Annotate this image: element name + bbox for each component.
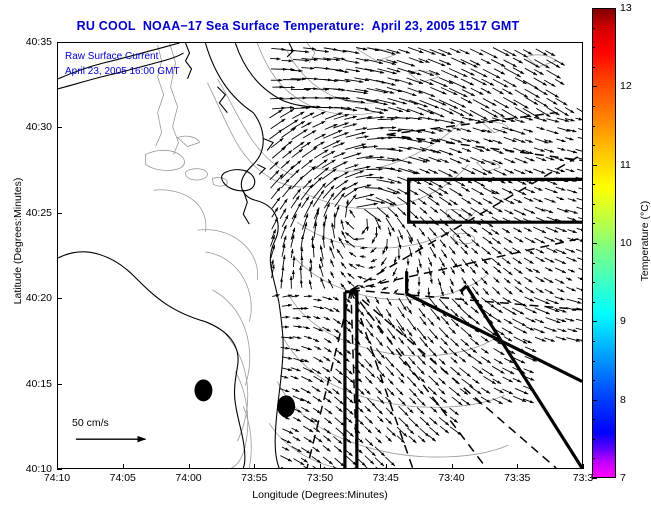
current-vector — [320, 257, 322, 267]
current-vector — [291, 121, 305, 130]
current-vector — [566, 278, 572, 281]
current-vector — [494, 267, 502, 273]
current-vector — [524, 209, 535, 214]
current-vector — [545, 289, 554, 294]
current-vector — [493, 150, 503, 154]
current-vector — [282, 150, 292, 158]
current-vector — [534, 117, 547, 121]
current-vector — [301, 279, 302, 287]
colorbar-minor-tick — [592, 361, 595, 362]
current-vector — [556, 187, 566, 190]
current-vector — [409, 100, 428, 107]
current-vector — [504, 319, 513, 324]
current-vector — [345, 165, 358, 169]
current-vector — [449, 387, 460, 396]
current-vector — [388, 208, 398, 218]
current-vector — [408, 346, 415, 355]
radar-site-marker — [277, 395, 295, 417]
current-vector — [420, 208, 427, 214]
current-vector — [471, 140, 481, 143]
current-vector — [503, 148, 514, 152]
current-vector — [314, 89, 328, 90]
current-vector — [335, 418, 345, 426]
current-vector — [269, 110, 282, 118]
current-vector — [311, 259, 312, 269]
current-vector — [314, 376, 324, 382]
current-vector — [322, 327, 330, 331]
current-vector — [271, 187, 280, 199]
current-vector — [399, 98, 418, 104]
current-vector — [470, 110, 488, 119]
current-vector — [429, 228, 436, 236]
y-axis-label: Latitude (Degrees:Minutes) — [12, 161, 24, 321]
current-vector — [504, 278, 510, 283]
current-vector — [376, 467, 387, 468]
current-vector — [283, 255, 285, 268]
current-vector — [481, 79, 494, 85]
current-vector — [331, 271, 334, 278]
current-vector — [441, 267, 445, 275]
current-vector — [461, 247, 468, 254]
current-vector — [555, 268, 566, 273]
current-vector — [492, 317, 501, 323]
current-vector — [428, 288, 429, 296]
current-vector — [428, 258, 431, 267]
current-vector — [292, 389, 299, 392]
current-vector — [301, 448, 310, 454]
current-vector — [536, 257, 545, 262]
current-vector — [310, 280, 312, 289]
current-vector — [504, 158, 515, 162]
current-vector — [461, 98, 472, 104]
current-vector — [417, 267, 418, 274]
current-vector — [576, 288, 582, 291]
current-vector — [346, 368, 353, 374]
current-vector — [576, 319, 582, 321]
current-vector — [312, 386, 321, 391]
current-vector — [504, 288, 512, 295]
current-vector — [312, 177, 322, 187]
current-vector — [450, 286, 453, 293]
current-vector — [386, 218, 395, 232]
map-graphics — [58, 43, 582, 468]
current-vector — [324, 68, 344, 70]
current-vector — [494, 348, 505, 354]
current-vector — [533, 227, 546, 233]
current-vector — [557, 118, 569, 121]
current-vector — [280, 389, 290, 392]
current-vector — [502, 389, 513, 394]
current-vector — [324, 307, 333, 311]
current-vector — [372, 237, 376, 244]
current-vector — [440, 367, 448, 375]
current-vector — [441, 287, 444, 296]
current-vector — [565, 138, 573, 140]
current-vector — [333, 297, 339, 300]
current-vector — [293, 189, 301, 199]
current-vector — [337, 249, 343, 259]
current-vector — [484, 139, 493, 142]
current-vector — [323, 140, 341, 148]
current-vector — [418, 389, 424, 395]
current-vector — [525, 347, 536, 352]
colorbar-tick-mark — [592, 400, 597, 401]
current-vector — [301, 388, 311, 393]
current-vector — [428, 337, 434, 344]
current-vector — [504, 68, 521, 77]
current-vector — [472, 188, 484, 195]
current-vector — [533, 269, 539, 273]
current-vector — [346, 456, 356, 465]
current-vector — [418, 436, 425, 442]
current-vector — [502, 188, 513, 193]
current-vector — [419, 308, 426, 317]
current-vector — [376, 338, 383, 347]
current-vector — [439, 299, 448, 310]
current-vector — [513, 258, 522, 264]
current-vector — [371, 248, 377, 253]
current-vector — [322, 160, 335, 168]
current-vector — [568, 329, 578, 332]
current-vector — [452, 378, 459, 384]
current-vector — [313, 396, 322, 402]
current-vector — [547, 107, 560, 115]
current-vector — [535, 238, 545, 243]
current-vector — [386, 418, 392, 424]
current-vector — [408, 318, 417, 330]
current-vector — [472, 77, 487, 85]
x-tick-label: 73:3 — [573, 472, 593, 484]
current-vector — [439, 359, 445, 365]
radar-site-marker — [194, 379, 212, 401]
current-vector — [565, 319, 574, 321]
current-vector — [555, 238, 564, 241]
x-tick-mark — [517, 464, 518, 469]
surface-current-vectors — [269, 47, 582, 468]
x-tick-mark — [320, 464, 321, 469]
current-vector — [470, 267, 476, 274]
current-vector — [533, 169, 545, 174]
current-vector — [451, 357, 458, 363]
current-vector — [471, 198, 482, 205]
current-vector — [483, 198, 493, 203]
colorbar-minor-tick — [592, 145, 595, 146]
current-vector — [534, 298, 550, 304]
current-vector — [360, 248, 367, 249]
current-vector — [281, 347, 290, 348]
current-vector — [568, 269, 575, 272]
current-vector — [461, 138, 471, 141]
x-tick-mark — [254, 464, 255, 469]
x-tick-mark — [386, 464, 387, 469]
current-vector — [504, 237, 513, 242]
current-vector — [430, 247, 436, 258]
current-vector — [567, 218, 576, 221]
current-vector — [567, 150, 577, 153]
current-vector — [482, 148, 490, 151]
current-vector — [429, 366, 436, 373]
current-vector — [515, 120, 525, 123]
current-vector — [303, 166, 315, 177]
current-vector — [555, 169, 565, 172]
y-tick-label: 40:20 — [26, 292, 52, 304]
current-vector — [534, 99, 548, 107]
current-vector — [450, 148, 462, 153]
current-vector — [282, 186, 291, 197]
current-vector — [462, 278, 467, 285]
current-vector — [366, 368, 374, 377]
current-vector — [525, 170, 533, 173]
current-vector — [322, 367, 330, 372]
current-vector — [349, 252, 356, 257]
current-vector — [304, 336, 312, 339]
current-vector — [566, 169, 575, 172]
current-vector — [350, 210, 355, 218]
current-vector — [429, 376, 439, 386]
current-vector — [393, 268, 397, 276]
current-vector — [409, 436, 417, 443]
current-vector — [557, 148, 565, 150]
current-vector — [417, 328, 426, 340]
current-vector — [409, 58, 424, 63]
current-vector — [449, 247, 455, 255]
current-vector — [336, 406, 343, 412]
current-vector — [515, 90, 528, 98]
current-vector — [565, 249, 575, 253]
current-vector — [282, 215, 288, 227]
current-vector — [491, 59, 505, 66]
current-vector — [293, 256, 294, 267]
current-vector — [410, 398, 416, 404]
current-vector — [292, 149, 303, 158]
current-vector — [431, 277, 432, 283]
current-vector — [546, 90, 559, 98]
current-vector — [450, 367, 460, 376]
y-tick-mark — [57, 127, 62, 128]
current-vector — [515, 388, 528, 394]
current-vector — [356, 265, 365, 268]
current-vector — [272, 197, 280, 208]
current-vector — [578, 277, 582, 279]
colorbar-minor-tick — [592, 263, 595, 264]
current-vector — [461, 339, 469, 346]
current-vector — [333, 436, 342, 443]
colorbar-minor-tick — [592, 439, 595, 440]
current-vector — [323, 436, 331, 442]
current-vector — [525, 157, 535, 161]
colorbar-minor-tick — [592, 341, 595, 342]
colorbar-minor-tick — [592, 126, 595, 127]
current-vector — [472, 379, 479, 384]
current-vector — [346, 69, 360, 71]
current-vector — [439, 417, 449, 425]
current-vector — [301, 68, 314, 69]
colorbar-minor-tick — [592, 28, 595, 29]
current-vector — [397, 218, 405, 228]
current-vector — [503, 377, 513, 382]
current-vector — [407, 329, 412, 336]
current-vector — [314, 134, 325, 140]
current-vector — [536, 127, 544, 129]
current-vector — [365, 389, 370, 395]
current-vector — [345, 232, 354, 239]
current-vector — [346, 132, 366, 137]
current-vector — [555, 158, 564, 161]
current-vector — [526, 327, 534, 331]
current-vector — [333, 89, 346, 90]
current-vector — [375, 427, 381, 433]
current-vector — [324, 418, 331, 424]
current-vector — [439, 150, 453, 155]
current-vector — [367, 328, 374, 337]
current-vector — [535, 337, 546, 341]
current-vector — [270, 98, 283, 99]
current-vector — [523, 80, 538, 89]
current-vector — [544, 198, 555, 202]
colorbar-minor-tick — [592, 47, 595, 48]
current-vector — [282, 429, 293, 434]
current-vector — [526, 268, 533, 272]
current-vector — [270, 170, 279, 180]
current-vector — [461, 187, 469, 192]
current-vector — [313, 121, 326, 127]
current-vector — [293, 417, 301, 421]
current-vector — [524, 197, 533, 201]
current-vector — [347, 281, 354, 287]
current-vector — [399, 90, 417, 96]
current-vector — [534, 198, 543, 202]
y-tick-label: 40:25 — [26, 207, 52, 219]
current-vector — [349, 264, 357, 269]
current-vector — [291, 70, 303, 71]
current-vector — [431, 407, 437, 413]
current-vector — [312, 112, 325, 118]
current-vector — [525, 297, 534, 301]
current-vector — [377, 416, 383, 422]
current-vector — [388, 227, 391, 236]
current-vector — [334, 329, 339, 333]
current-vector — [470, 157, 485, 163]
current-vector — [536, 157, 546, 160]
current-vector — [312, 369, 321, 374]
current-vector — [567, 299, 582, 303]
current-vector — [544, 80, 555, 86]
current-vector — [303, 48, 316, 49]
current-vector — [577, 169, 582, 173]
current-vector — [280, 209, 286, 219]
current-vector — [302, 113, 314, 119]
current-vector — [371, 259, 377, 262]
current-vector — [505, 169, 514, 173]
current-vector — [482, 247, 491, 255]
colorbar-tick-mark — [592, 165, 597, 166]
current-vector — [323, 130, 342, 138]
current-vector — [365, 406, 371, 412]
y-tick-mark — [57, 42, 62, 43]
current-vector — [429, 418, 437, 425]
current-vector — [555, 60, 565, 66]
current-vector — [375, 317, 380, 325]
current-vector — [503, 307, 517, 315]
current-vector — [459, 368, 470, 377]
current-vector — [481, 357, 491, 363]
current-vector — [282, 60, 293, 61]
current-vector — [293, 396, 304, 401]
current-vector — [420, 100, 439, 108]
current-vector — [441, 338, 448, 345]
current-vector — [438, 278, 441, 286]
current-vector — [492, 366, 504, 373]
current-vector — [483, 288, 489, 295]
current-vector — [459, 157, 470, 161]
current-vector — [387, 87, 402, 91]
current-vector — [395, 257, 397, 264]
current-vector — [322, 297, 332, 300]
current-vector — [483, 98, 496, 105]
colorbar-tick-label: 7 — [620, 472, 626, 484]
current-vector — [513, 299, 527, 306]
current-vector — [449, 327, 456, 334]
current-vector — [365, 426, 372, 433]
current-vector — [345, 60, 360, 63]
current-vector — [271, 119, 285, 129]
current-vector — [366, 309, 370, 315]
current-vector — [492, 88, 503, 94]
current-vector — [375, 407, 382, 414]
current-vector — [440, 346, 448, 354]
current-vector — [334, 358, 341, 364]
current-vector — [357, 203, 378, 207]
current-vector — [544, 210, 553, 213]
current-vector — [534, 148, 545, 152]
current-vector — [409, 118, 422, 119]
current-vector — [555, 297, 565, 300]
current-vector — [544, 327, 556, 331]
current-vector — [545, 258, 555, 263]
current-vector — [547, 98, 558, 104]
current-vector — [492, 140, 502, 143]
current-vector — [470, 338, 479, 345]
current-vector — [502, 258, 511, 264]
current-vector — [313, 408, 321, 413]
current-vector — [460, 298, 468, 305]
current-vector — [503, 97, 517, 105]
current-vector — [291, 368, 301, 371]
bathymetry-contours — [146, 43, 556, 468]
current-vector — [483, 237, 492, 244]
current-vector — [314, 436, 323, 442]
current-vector — [452, 299, 461, 308]
current-vector — [492, 287, 500, 294]
colorbar-tick-label: 12 — [620, 80, 632, 92]
x-tick-label: 74:00 — [175, 472, 201, 484]
current-vector — [313, 306, 323, 308]
current-vector — [492, 247, 502, 255]
current-vector — [481, 388, 490, 394]
colorbar-tick-mark — [592, 86, 597, 87]
current-vector — [452, 397, 462, 405]
current-vector — [568, 230, 577, 233]
current-vector — [534, 78, 547, 85]
current-vector — [429, 157, 441, 162]
current-vector — [376, 438, 382, 444]
current-vector — [409, 369, 415, 376]
current-vector — [534, 187, 542, 190]
current-vector — [324, 339, 331, 344]
current-vector — [376, 348, 384, 358]
current-vector — [365, 359, 373, 367]
current-vector — [399, 160, 412, 163]
